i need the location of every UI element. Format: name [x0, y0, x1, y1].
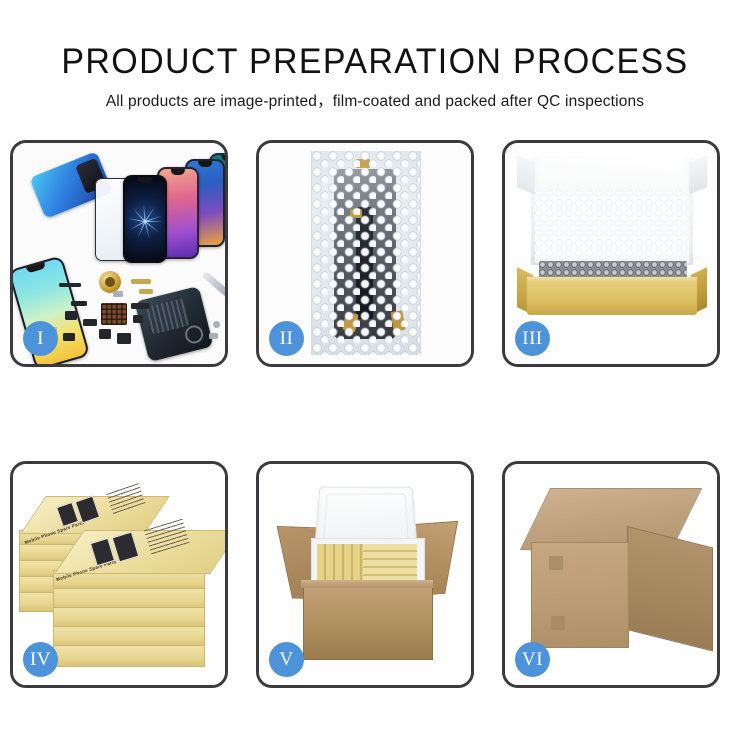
process-step-panel-3: III [502, 140, 720, 367]
carton-tape-patch [551, 616, 565, 630]
page-title: PRODUCT PREPARATION PROCESS [11, 0, 739, 82]
flex-cable-part [139, 289, 153, 294]
process-step-panel-5: V [256, 461, 474, 688]
phone-notch-icon [138, 177, 153, 183]
process-step-panel-6: VI [502, 461, 720, 688]
bubble-wrap-bag [311, 151, 421, 355]
spare-part [117, 333, 131, 344]
step-badge-1: I [23, 321, 58, 356]
stacked-box [53, 588, 205, 609]
carton-rim [301, 580, 433, 588]
step-badge-4: IV [23, 642, 58, 677]
spare-part [59, 283, 81, 287]
foam-sheet [535, 189, 689, 263]
stacked-box [53, 645, 205, 667]
spare-part [71, 301, 87, 306]
box-front-face [527, 281, 697, 315]
spare-part [99, 329, 111, 339]
spare-part [133, 315, 143, 323]
spare-part [65, 311, 77, 320]
phone-notch-icon [198, 161, 212, 167]
printed-box-lid [54, 530, 225, 574]
phone-dark-cracked [123, 175, 167, 263]
carton-side-face [627, 526, 713, 651]
process-step-panel-1: I [10, 140, 228, 367]
yellow-boxes-inside [363, 544, 417, 584]
spare-part [209, 333, 218, 339]
step-badge-3: III [515, 321, 550, 356]
carton-tape-patch [549, 556, 563, 570]
step-badge-6: VI [515, 642, 550, 677]
process-step-grid: I II III [10, 140, 740, 688]
spare-part [113, 291, 123, 297]
process-step-panel-2: II [256, 140, 474, 367]
step-badge-2: II [269, 321, 304, 356]
flex-cable-part [131, 279, 151, 284]
screw-part [213, 321, 220, 328]
logic-board-chip [101, 303, 127, 325]
bubble-texture [312, 151, 420, 355]
spare-part [131, 303, 149, 309]
page-subtitle: All products are image-printed，film-coat… [0, 82, 750, 112]
process-step-panel-4: Mobile Phone Spare Parts Mobile Phone Sp… [10, 461, 228, 688]
stacked-box [53, 607, 205, 628]
speaker-part [99, 271, 121, 293]
spare-part [83, 319, 97, 326]
spare-part [63, 333, 75, 341]
stacked-box [53, 626, 205, 647]
carton-front-face [531, 542, 629, 648]
step-badge-5: V [269, 642, 304, 677]
page-header: PRODUCT PREPARATION PROCESS All products… [0, 0, 750, 130]
carton-front-face [303, 584, 433, 660]
